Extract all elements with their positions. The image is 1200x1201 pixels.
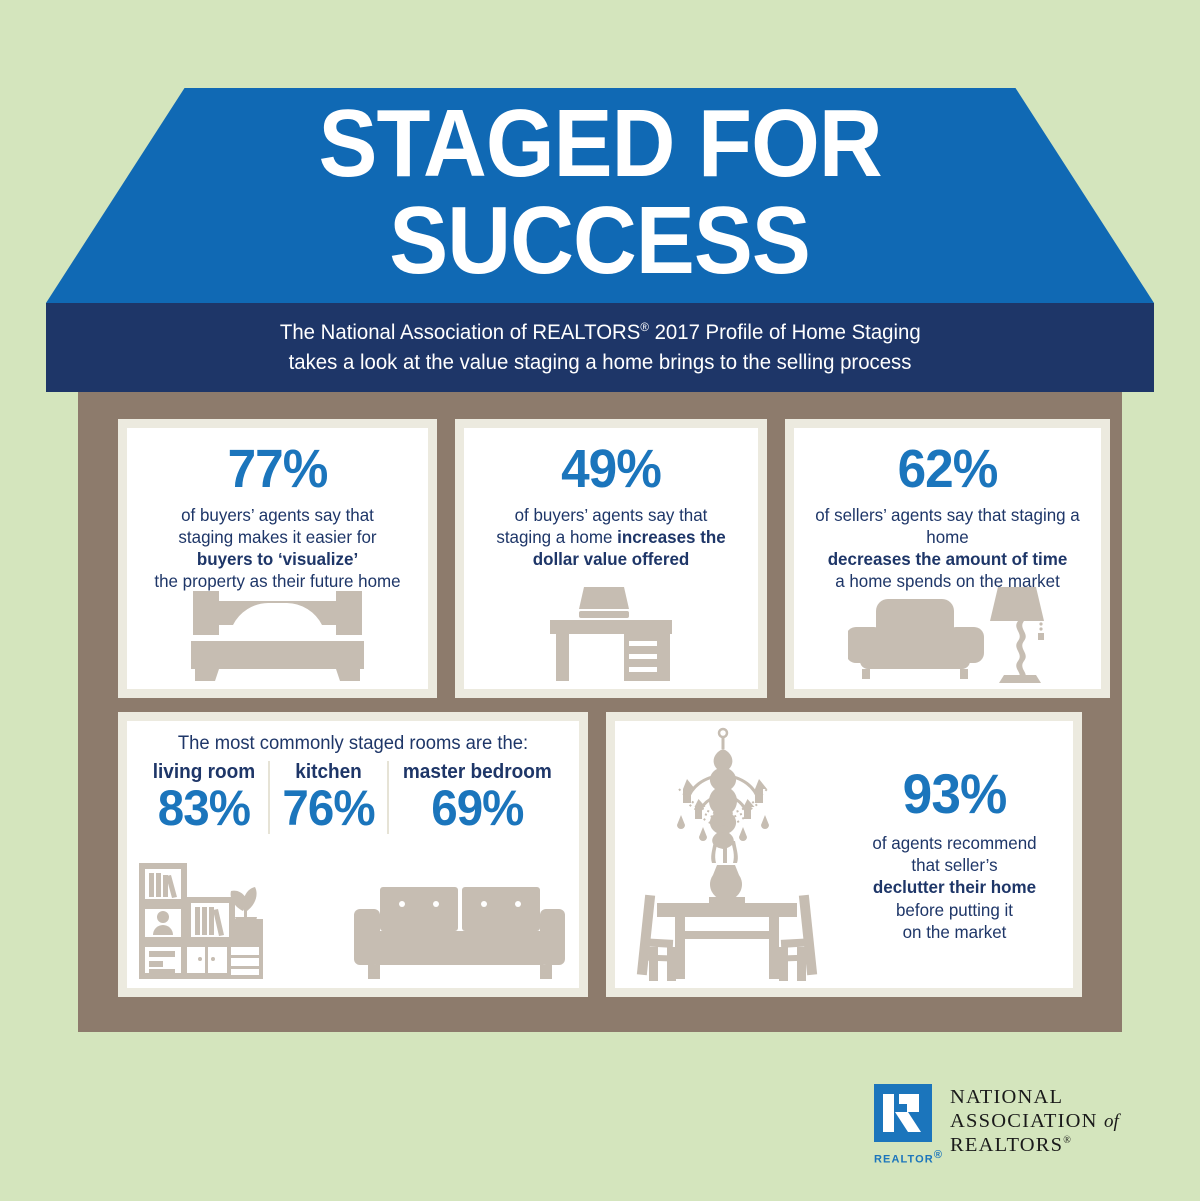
page-title-line1: STAGED FOR (318, 98, 881, 189)
stat-card-visualize: 77% of buyers’ agents say that staging m… (118, 419, 437, 698)
room-stat-living-room: living room 83% (140, 761, 268, 834)
nar-logo-text: NATIONAL ASSOCIATION of REALTORS® (950, 1084, 1119, 1157)
stat-card-time-on-market: 62% of sellers’ agents say that staging … (785, 419, 1110, 698)
room-percent: 76% (282, 783, 374, 834)
declutter-card: 93% of agents recommend that seller’s de… (606, 712, 1082, 997)
dining-table-chandelier-icon (615, 721, 840, 988)
stats-row-bottom: The most commonly staged rooms are the: … (118, 712, 1082, 997)
logo-line-2: ASSOCIATION of (950, 1110, 1119, 1134)
stat-percent: 62% (802, 442, 1094, 496)
stats-row-top: 77% of buyers’ agents say that staging m… (118, 419, 1110, 698)
subtitle-bar: The National Association of REALTORS® 20… (46, 303, 1154, 392)
stat-description: of buyers’ agents say that staging a hom… (468, 504, 753, 570)
page-title-line2: SUCCESS (390, 195, 811, 286)
rooms-stats-row: living room 83% kitchen 76% master bedro… (127, 761, 579, 834)
room-stat-master-bedroom: master bedroom 69% (387, 761, 566, 834)
stat-percent: 49% (471, 442, 750, 496)
room-stat-kitchen: kitchen 76% (268, 761, 387, 834)
most-staged-rooms-card: The most commonly staged rooms are the: … (118, 712, 588, 997)
stat-percent: 77% (135, 442, 421, 496)
house-body: 77% of buyers’ agents say that staging m… (78, 392, 1122, 1032)
nar-logo: REALTOR® NATIONAL ASSOCIATION of REALTOR… (874, 1084, 1119, 1166)
realtor-mark-icon: REALTOR® (874, 1084, 936, 1166)
room-percent: 69% (403, 783, 552, 834)
subtitle-line1: The National Association of REALTORS® 20… (280, 318, 921, 348)
stat-percent: 93% (846, 766, 1064, 822)
desk-icon (464, 578, 758, 683)
rooms-icons (127, 861, 579, 986)
logo-line-3: REALTORS® (950, 1134, 1119, 1158)
armchair-lamp-icon (794, 578, 1101, 683)
realtor-wordmark: REALTOR® (874, 1149, 936, 1166)
room-percent: 83% (153, 783, 255, 834)
infographic-page: STAGED FOR SUCCESS The National Associat… (0, 0, 1200, 1201)
subtitle-line2: takes a look at the value staging a home… (289, 348, 912, 378)
bookshelf-icon (135, 859, 285, 986)
rooms-heading: The most commonly staged rooms are the: (134, 721, 572, 755)
bed-icon (127, 578, 428, 683)
roof-banner: STAGED FOR SUCCESS (46, 88, 1154, 303)
sofa-icon (352, 873, 567, 986)
stat-description: of agents recommend that seller’s declut… (843, 832, 1065, 942)
logo-line-1: NATIONAL (950, 1086, 1119, 1110)
stat-card-dollar-value: 49% of buyers’ agents say that staging a… (455, 419, 767, 698)
